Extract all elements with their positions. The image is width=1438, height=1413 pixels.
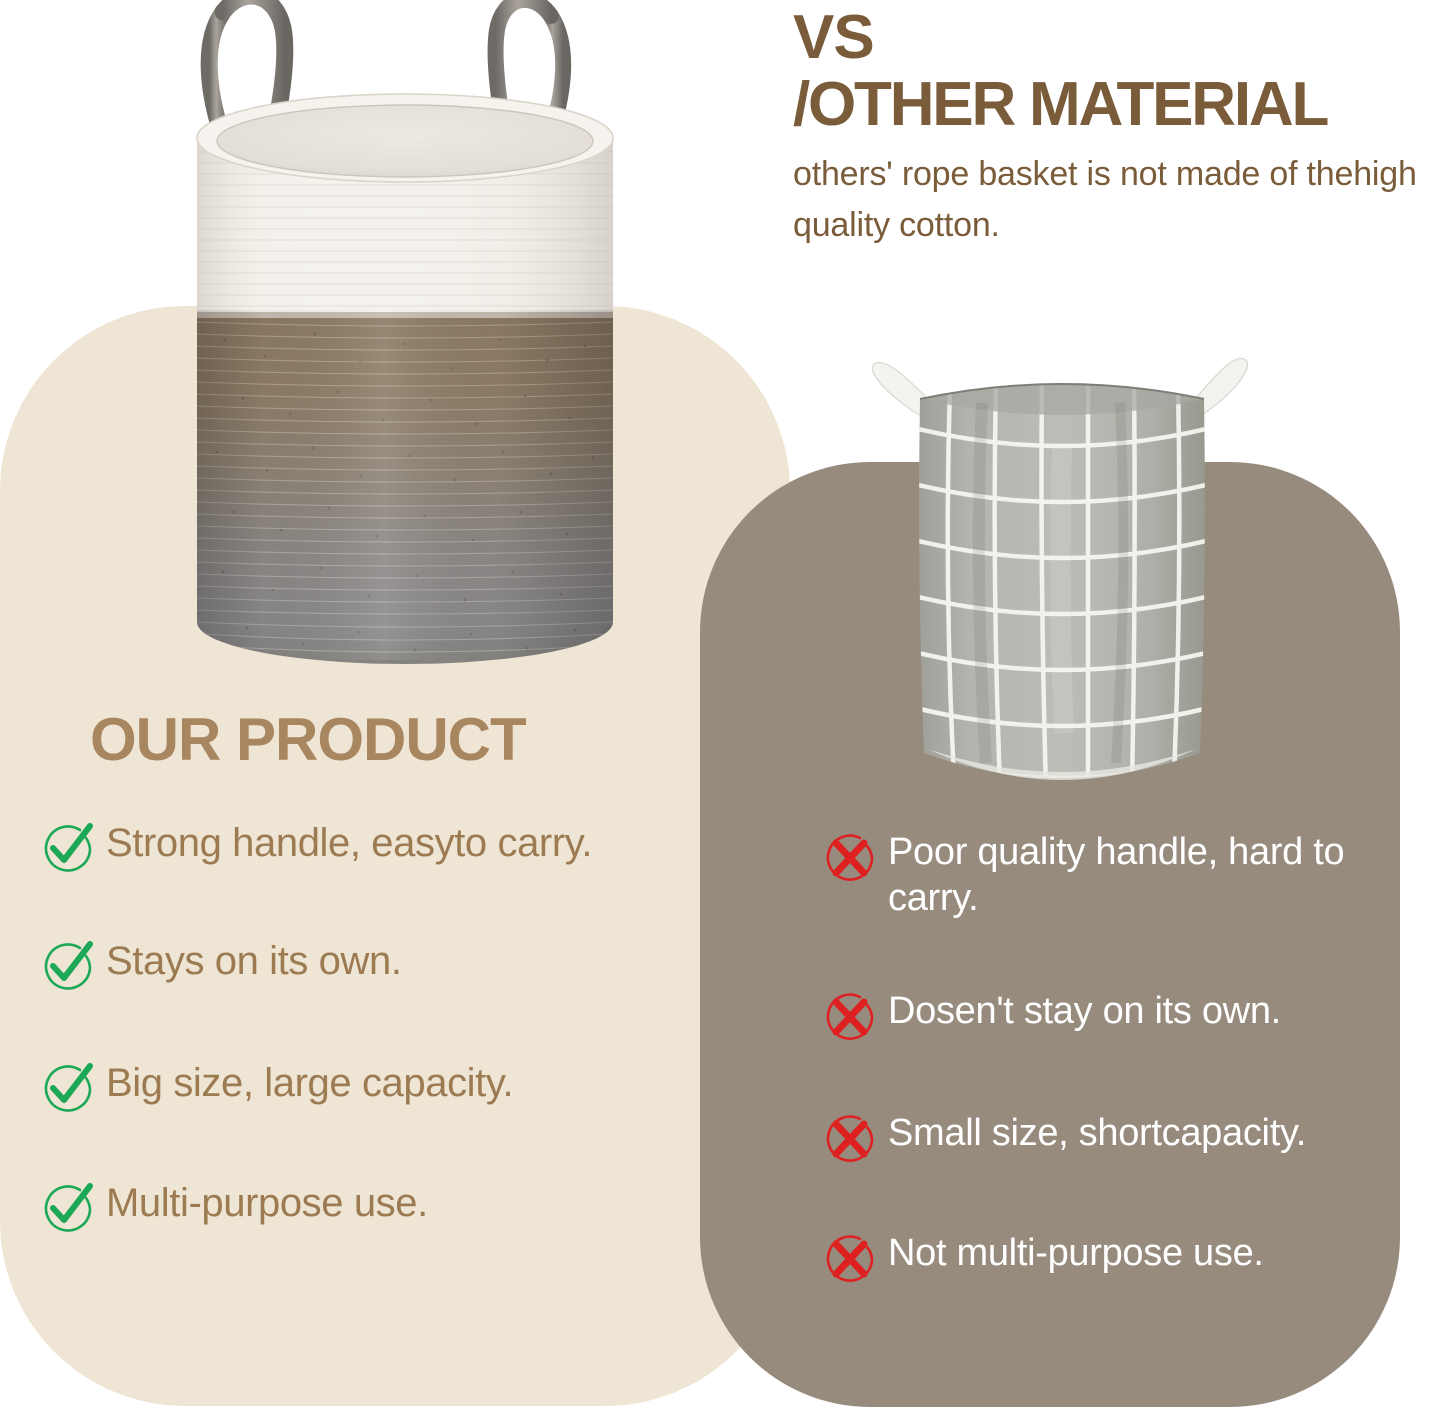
drawback-text: Small size, shortcapacity. [888, 1109, 1306, 1157]
other-basket-image [862, 333, 1262, 823]
feature-text: Big size, large capacity. [106, 1058, 513, 1106]
our-basket-image [155, 0, 655, 710]
other-product-drawback-list: Poor quality handle, hard to carry. Dose… [822, 828, 1402, 1333]
green-check-icon [40, 1060, 96, 1116]
list-item: Stays on its own. [40, 936, 740, 994]
list-item: Poor quality handle, hard to carry. [822, 828, 1402, 921]
our-product-heading: OUR PRODUCT [90, 705, 526, 774]
drawback-text: Dosen't stay on its own. [888, 987, 1281, 1035]
red-x-icon [822, 830, 878, 886]
green-check-icon [40, 1180, 96, 1236]
drawback-text: Poor quality handle, hard to carry. [888, 828, 1402, 921]
feature-text: Stays on its own. [106, 936, 402, 984]
feature-text: Strong handle, easyto carry. [106, 818, 592, 866]
our-product-feature-list: Strong handle, easyto carry. Stays on it… [40, 818, 740, 1282]
other-material-label: /OTHER MATERIAL [793, 69, 1433, 140]
red-x-icon [822, 1231, 878, 1287]
list-item: Strong handle, easyto carry. [40, 818, 740, 876]
list-item: Not multi-purpose use. [822, 1229, 1402, 1287]
red-x-icon [822, 1111, 878, 1167]
other-material-description: others' rope basket is not made of thehi… [793, 149, 1433, 252]
list-item: Small size, shortcapacity. [822, 1109, 1402, 1167]
vs-label: VS [793, 6, 1433, 69]
list-item: Multi-purpose use. [40, 1178, 740, 1236]
comparison-infographic: VS /OTHER MATERIAL others' rope basket i… [0, 0, 1438, 1413]
drawback-text: Not multi-purpose use. [888, 1229, 1264, 1277]
vs-header: VS /OTHER MATERIAL others' rope basket i… [793, 6, 1433, 252]
list-item: Big size, large capacity. [40, 1058, 740, 1116]
green-check-icon [40, 938, 96, 994]
red-x-icon [822, 989, 878, 1045]
feature-text: Multi-purpose use. [106, 1178, 428, 1226]
list-item: Dosen't stay on its own. [822, 987, 1402, 1045]
green-check-icon [40, 820, 96, 876]
